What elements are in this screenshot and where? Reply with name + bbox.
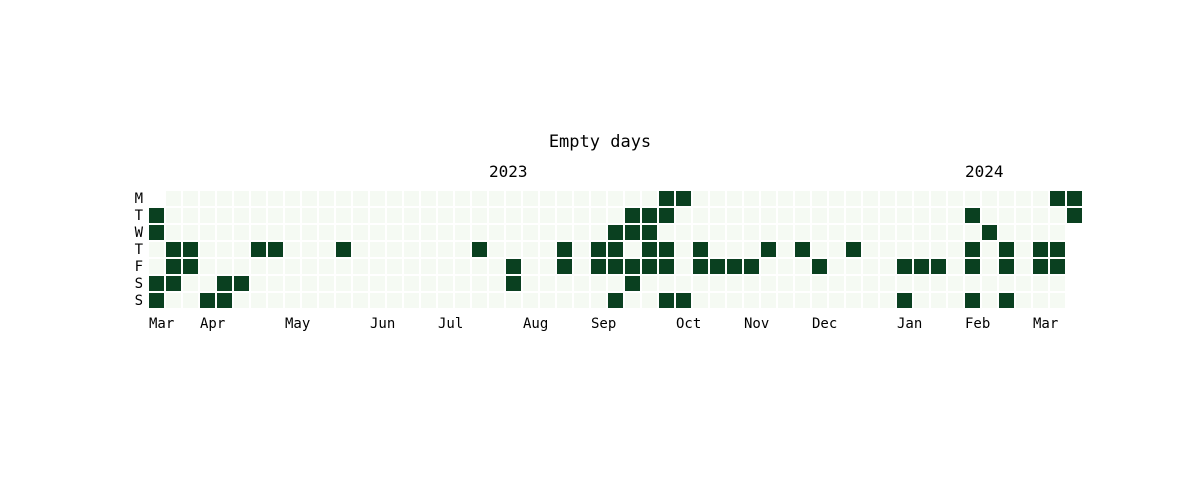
heatmap-cell xyxy=(251,208,266,223)
heatmap-cell xyxy=(812,259,827,274)
heatmap-cell xyxy=(387,191,402,206)
heatmap-cell xyxy=(438,293,453,308)
heatmap-cell xyxy=(285,208,300,223)
heatmap-cell xyxy=(761,225,776,240)
heatmap-cell xyxy=(149,276,164,291)
heatmap-cell xyxy=(1050,276,1065,291)
heatmap-cell xyxy=(200,225,215,240)
heatmap-cell xyxy=(387,242,402,257)
heatmap-cell xyxy=(1016,276,1031,291)
heatmap-cell xyxy=(761,293,776,308)
heatmap-cell xyxy=(540,259,555,274)
heatmap-cell xyxy=(1016,242,1031,257)
heatmap-cell xyxy=(676,225,691,240)
heatmap-cell xyxy=(897,293,912,308)
heatmap-cell xyxy=(795,259,810,274)
heatmap-cell xyxy=(149,208,164,223)
calendar-heatmap-figure: Empty days 20232024 MTWTFSS MarAprMayJun… xyxy=(0,0,1200,500)
heatmap-cell xyxy=(863,208,878,223)
heatmap-cell xyxy=(251,259,266,274)
heatmap-cell xyxy=(523,208,538,223)
heatmap-cell xyxy=(676,259,691,274)
heatmap-cell xyxy=(217,225,232,240)
heatmap-cell xyxy=(863,259,878,274)
heatmap-cell xyxy=(251,191,266,206)
heatmap-cell xyxy=(710,225,725,240)
heatmap-cell xyxy=(387,276,402,291)
heatmap-cell xyxy=(846,242,861,257)
heatmap-cell xyxy=(999,293,1014,308)
heatmap-cell xyxy=(540,208,555,223)
heatmap-cell xyxy=(744,276,759,291)
heatmap-cell xyxy=(931,276,946,291)
heatmap-cell xyxy=(948,225,963,240)
heatmap-cell xyxy=(421,208,436,223)
heatmap-cell xyxy=(1033,191,1048,206)
heatmap-cell xyxy=(744,208,759,223)
heatmap-cell xyxy=(387,225,402,240)
heatmap-cell xyxy=(608,293,623,308)
heatmap-cell xyxy=(200,293,215,308)
day-of-week-label: M xyxy=(117,191,143,208)
heatmap-cell xyxy=(234,242,249,257)
heatmap-cell xyxy=(795,276,810,291)
heatmap-cell xyxy=(846,191,861,206)
heatmap-cell xyxy=(591,208,606,223)
heatmap-cell xyxy=(523,259,538,274)
heatmap-cell xyxy=(965,293,980,308)
heatmap-cell xyxy=(404,208,419,223)
heatmap-cell xyxy=(982,276,997,291)
heatmap-cell xyxy=(421,225,436,240)
heatmap-cell xyxy=(982,191,997,206)
heatmap-cell xyxy=(387,293,402,308)
heatmap-cell xyxy=(1050,259,1065,274)
heatmap-cell xyxy=(693,259,708,274)
heatmap-cell xyxy=(1016,259,1031,274)
month-label: Oct xyxy=(676,316,701,332)
heatmap-cell xyxy=(744,259,759,274)
heatmap-cell xyxy=(965,225,980,240)
heatmap-cell xyxy=(591,225,606,240)
heatmap-cell xyxy=(302,293,317,308)
heatmap-cell xyxy=(336,293,351,308)
heatmap-cell xyxy=(761,191,776,206)
heatmap-cell xyxy=(948,208,963,223)
heatmap-cell xyxy=(200,276,215,291)
day-of-week-label: F xyxy=(117,259,143,276)
heatmap-cell xyxy=(353,242,368,257)
heatmap-cell xyxy=(625,259,640,274)
heatmap-cell xyxy=(1016,208,1031,223)
heatmap-cell xyxy=(489,191,504,206)
heatmap-cell xyxy=(727,191,742,206)
heatmap-cell xyxy=(676,293,691,308)
heatmap-cell xyxy=(166,259,181,274)
heatmap-cell xyxy=(693,225,708,240)
heatmap-cell xyxy=(183,242,198,257)
month-label: Jun xyxy=(370,316,395,332)
heatmap-cell xyxy=(863,242,878,257)
heatmap-cell xyxy=(319,191,334,206)
heatmap-cell xyxy=(625,191,640,206)
heatmap-cell xyxy=(693,276,708,291)
heatmap-cell xyxy=(659,208,674,223)
heatmap-cell xyxy=(965,242,980,257)
heatmap-cell xyxy=(710,191,725,206)
heatmap-cell xyxy=(778,276,793,291)
heatmap-cell xyxy=(472,208,487,223)
heatmap-cell xyxy=(608,276,623,291)
heatmap-cell xyxy=(795,191,810,206)
heatmap-cell xyxy=(455,191,470,206)
heatmap-cell xyxy=(506,208,521,223)
heatmap-cell xyxy=(880,225,895,240)
month-label: Aug xyxy=(523,316,548,332)
heatmap-cell xyxy=(676,191,691,206)
heatmap-cell xyxy=(353,276,368,291)
heatmap-cell xyxy=(285,242,300,257)
heatmap-cell xyxy=(948,259,963,274)
heatmap-cell xyxy=(727,276,742,291)
heatmap-cell xyxy=(353,293,368,308)
heatmap-cell xyxy=(880,208,895,223)
heatmap-cell xyxy=(1067,208,1082,223)
heatmap-cell xyxy=(183,225,198,240)
heatmap-cell xyxy=(914,259,929,274)
heatmap-cell xyxy=(455,225,470,240)
heatmap-cell xyxy=(387,208,402,223)
heatmap-cell xyxy=(727,293,742,308)
heatmap-cell xyxy=(778,242,793,257)
heatmap-cell xyxy=(642,191,657,206)
heatmap-cell xyxy=(404,242,419,257)
heatmap-cell xyxy=(982,293,997,308)
heatmap-cell xyxy=(183,208,198,223)
month-label: Feb xyxy=(965,316,990,332)
heatmap-cell xyxy=(523,242,538,257)
heatmap-cell xyxy=(914,293,929,308)
day-of-week-label: T xyxy=(117,208,143,225)
heatmap-cell xyxy=(710,208,725,223)
heatmap-cell xyxy=(1050,293,1065,308)
heatmap-cell xyxy=(336,225,351,240)
heatmap-cell xyxy=(778,225,793,240)
heatmap-cell xyxy=(710,242,725,257)
heatmap-cell xyxy=(642,242,657,257)
year-label: 2024 xyxy=(965,162,1004,181)
heatmap-cell xyxy=(353,191,368,206)
heatmap-cell xyxy=(489,225,504,240)
heatmap-cell xyxy=(217,208,232,223)
heatmap-cell xyxy=(472,293,487,308)
heatmap-cell xyxy=(897,242,912,257)
heatmap-cell xyxy=(931,208,946,223)
month-label: Nov xyxy=(744,316,769,332)
month-label: Mar xyxy=(149,316,174,332)
heatmap-cell xyxy=(1033,276,1048,291)
heatmap-cell xyxy=(166,191,181,206)
heatmap-cell xyxy=(285,191,300,206)
heatmap-cell xyxy=(642,276,657,291)
heatmap-cell xyxy=(200,259,215,274)
heatmap-cell xyxy=(625,208,640,223)
heatmap-cell xyxy=(557,208,572,223)
heatmap-cell xyxy=(353,208,368,223)
heatmap-cell xyxy=(268,242,283,257)
heatmap-cell xyxy=(1016,293,1031,308)
heatmap-cell xyxy=(489,293,504,308)
heatmap-cell xyxy=(489,259,504,274)
heatmap-cell xyxy=(608,259,623,274)
heatmap-cell xyxy=(642,208,657,223)
heatmap-cell xyxy=(149,259,164,274)
heatmap-cell xyxy=(574,293,589,308)
heatmap-cell xyxy=(829,191,844,206)
heatmap-cell xyxy=(914,191,929,206)
heatmap-cell xyxy=(285,259,300,274)
heatmap-cell xyxy=(642,259,657,274)
heatmap-cell xyxy=(1050,225,1065,240)
heatmap-cell xyxy=(523,191,538,206)
heatmap-cell xyxy=(761,242,776,257)
heatmap-cell xyxy=(574,208,589,223)
heatmap-cell xyxy=(268,208,283,223)
heatmap-cell xyxy=(591,191,606,206)
heatmap-cell xyxy=(183,191,198,206)
heatmap-cell xyxy=(336,191,351,206)
heatmap-cell xyxy=(591,242,606,257)
heatmap-cell xyxy=(557,225,572,240)
heatmap-cell xyxy=(727,208,742,223)
heatmap-cell xyxy=(540,242,555,257)
heatmap-cell xyxy=(863,191,878,206)
heatmap-cell xyxy=(931,191,946,206)
heatmap-cell xyxy=(302,242,317,257)
heatmap-cell xyxy=(744,242,759,257)
heatmap-cell xyxy=(676,208,691,223)
heatmap-cell xyxy=(761,259,776,274)
heatmap-cell xyxy=(183,293,198,308)
heatmap-cell xyxy=(319,208,334,223)
heatmap-cell xyxy=(591,293,606,308)
heatmap-cell xyxy=(489,276,504,291)
heatmap-cell xyxy=(999,191,1014,206)
heatmap-cell xyxy=(353,259,368,274)
heatmap-cell xyxy=(1016,191,1031,206)
heatmap-cell xyxy=(727,259,742,274)
heatmap-cell xyxy=(846,208,861,223)
heatmap-cell xyxy=(1033,242,1048,257)
heatmap-cell xyxy=(880,259,895,274)
heatmap-cell xyxy=(778,208,793,223)
heatmap-cell xyxy=(829,276,844,291)
heatmap-cell xyxy=(659,259,674,274)
heatmap-cell xyxy=(1050,191,1065,206)
heatmap-cell xyxy=(931,225,946,240)
heatmap-cell xyxy=(370,242,385,257)
heatmap-cell xyxy=(982,225,997,240)
month-label: Apr xyxy=(200,316,225,332)
heatmap-cell xyxy=(676,242,691,257)
heatmap-cell xyxy=(744,225,759,240)
heatmap-cell xyxy=(846,276,861,291)
heatmap-cell xyxy=(302,276,317,291)
heatmap-cell xyxy=(693,293,708,308)
heatmap-cell xyxy=(149,225,164,240)
heatmap-cell xyxy=(965,191,980,206)
day-of-week-label: W xyxy=(117,225,143,242)
heatmap-cell xyxy=(710,293,725,308)
month-label: Dec xyxy=(812,316,837,332)
heatmap-cell xyxy=(319,293,334,308)
heatmap-cell xyxy=(455,259,470,274)
heatmap-cell xyxy=(421,293,436,308)
page-title: Empty days xyxy=(0,132,1200,152)
heatmap-cell xyxy=(200,242,215,257)
day-of-week-label: S xyxy=(117,293,143,310)
heatmap-cell xyxy=(591,259,606,274)
heatmap-cell xyxy=(251,225,266,240)
heatmap-cell xyxy=(642,293,657,308)
heatmap-cell xyxy=(506,242,521,257)
day-of-week-label: T xyxy=(117,242,143,259)
heatmap-cell xyxy=(370,276,385,291)
heatmap-cell xyxy=(897,208,912,223)
heatmap-cell xyxy=(404,191,419,206)
heatmap-cell xyxy=(659,276,674,291)
heatmap-cell xyxy=(489,242,504,257)
heatmap-cell xyxy=(149,293,164,308)
heatmap-cell xyxy=(370,225,385,240)
heatmap-cell xyxy=(438,208,453,223)
heatmap-cell xyxy=(931,293,946,308)
heatmap-cell xyxy=(302,259,317,274)
heatmap-cell xyxy=(625,225,640,240)
heatmap-cell xyxy=(727,225,742,240)
heatmap-cell xyxy=(574,259,589,274)
heatmap-cell xyxy=(659,293,674,308)
heatmap-cell xyxy=(472,191,487,206)
heatmap-cell xyxy=(846,293,861,308)
heatmap-cell xyxy=(523,225,538,240)
heatmap-cell xyxy=(1033,225,1048,240)
heatmap-cell xyxy=(455,293,470,308)
heatmap-cell xyxy=(166,276,181,291)
heatmap-cell xyxy=(336,208,351,223)
heatmap-cell xyxy=(795,225,810,240)
heatmap-cell xyxy=(812,225,827,240)
heatmap-cell xyxy=(404,276,419,291)
heatmap-cell xyxy=(319,259,334,274)
heatmap-cell xyxy=(540,293,555,308)
heatmap-cell xyxy=(217,191,232,206)
heatmap-cell xyxy=(268,191,283,206)
heatmap-cell xyxy=(557,191,572,206)
year-label: 2023 xyxy=(489,162,528,181)
heatmap-cell xyxy=(540,225,555,240)
heatmap-cell xyxy=(863,225,878,240)
heatmap-cell xyxy=(285,293,300,308)
heatmap-cell xyxy=(285,225,300,240)
heatmap-cell xyxy=(948,293,963,308)
heatmap-cell xyxy=(642,225,657,240)
heatmap-cell xyxy=(761,276,776,291)
heatmap-cell xyxy=(387,259,402,274)
heatmap-cell xyxy=(574,225,589,240)
heatmap-cell xyxy=(1033,293,1048,308)
heatmap-cell xyxy=(506,293,521,308)
heatmap-cell xyxy=(931,259,946,274)
heatmap-cell xyxy=(523,276,538,291)
heatmap-cell xyxy=(319,225,334,240)
heatmap-cell xyxy=(455,208,470,223)
heatmap-cell xyxy=(659,191,674,206)
heatmap-cell xyxy=(846,225,861,240)
heatmap-cell xyxy=(404,293,419,308)
month-label: Sep xyxy=(591,316,616,332)
heatmap-cell xyxy=(812,242,827,257)
heatmap-cell xyxy=(234,191,249,206)
heatmap-cell xyxy=(897,191,912,206)
heatmap-cell xyxy=(166,293,181,308)
heatmap-cell xyxy=(506,276,521,291)
heatmap-cell xyxy=(251,276,266,291)
heatmap-cell xyxy=(829,208,844,223)
heatmap-cell xyxy=(914,208,929,223)
heatmap-cell xyxy=(812,293,827,308)
heatmap-cell xyxy=(336,259,351,274)
heatmap-cell xyxy=(1050,208,1065,223)
heatmap-cell xyxy=(506,259,521,274)
heatmap-cell xyxy=(251,293,266,308)
heatmap-cell xyxy=(795,293,810,308)
heatmap-cell xyxy=(659,242,674,257)
heatmap-cell xyxy=(625,293,640,308)
heatmap-cell xyxy=(591,276,606,291)
heatmap-cell xyxy=(812,208,827,223)
month-label: Jan xyxy=(897,316,922,332)
heatmap-cell xyxy=(812,191,827,206)
heatmap-cell xyxy=(778,293,793,308)
heatmap-cell xyxy=(948,191,963,206)
heatmap-cell xyxy=(999,259,1014,274)
heatmap-cell xyxy=(438,259,453,274)
heatmap-cell xyxy=(608,225,623,240)
heatmap-cell xyxy=(251,242,266,257)
heatmap-cell xyxy=(370,259,385,274)
heatmap-cell xyxy=(1067,191,1082,206)
heatmap-cell xyxy=(880,191,895,206)
heatmap-cell xyxy=(234,293,249,308)
heatmap-cell xyxy=(421,259,436,274)
heatmap-cell xyxy=(999,276,1014,291)
heatmap-cell xyxy=(897,259,912,274)
heatmap-cell xyxy=(200,208,215,223)
heatmap-cell xyxy=(268,225,283,240)
heatmap-cell xyxy=(421,191,436,206)
heatmap-cell xyxy=(1033,259,1048,274)
heatmap-cell xyxy=(914,242,929,257)
heatmap-cell xyxy=(778,191,793,206)
heatmap-cell xyxy=(336,276,351,291)
heatmap-cell xyxy=(982,259,997,274)
heatmap-cell xyxy=(472,259,487,274)
heatmap-cell xyxy=(931,242,946,257)
heatmap-cell xyxy=(608,191,623,206)
heatmap-cell xyxy=(999,242,1014,257)
heatmap-cell xyxy=(217,242,232,257)
